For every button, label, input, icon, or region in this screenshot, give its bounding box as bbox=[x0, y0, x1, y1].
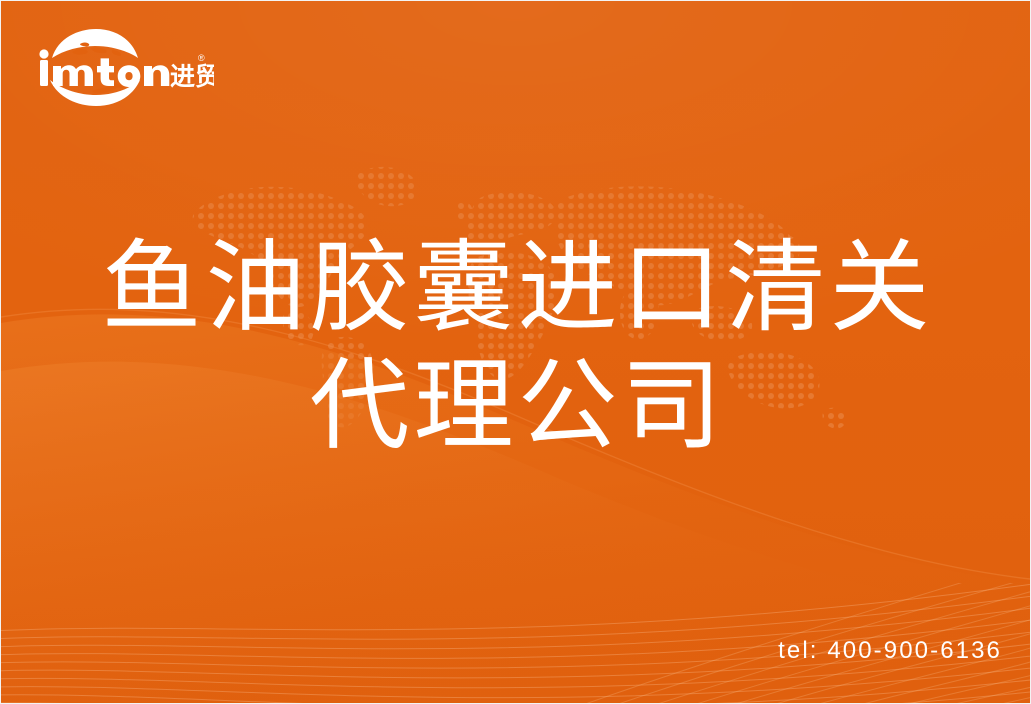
company-logo[interactable]: 进贸通 ® bbox=[34, 28, 214, 106]
logo-chinese-name: 进贸通 bbox=[170, 62, 214, 91]
logo-wordmark bbox=[39, 49, 169, 87]
contact-phone[interactable]: tel: 400-900-6136 bbox=[778, 637, 1002, 665]
headline-line-2: 代理公司 bbox=[1, 347, 1030, 465]
headline-line-1: 鱼油胶囊进口清关 bbox=[1, 229, 1030, 347]
globe-arc-icon bbox=[52, 29, 138, 58]
promo-banner: 进贸通 ® 鱼油胶囊进口清关 代理公司 tel: 400-900-6136 bbox=[0, 0, 1031, 704]
dotted-world-map bbox=[176, 141, 866, 431]
background-gradient bbox=[1, 1, 1030, 703]
trademark-symbol: ® bbox=[198, 53, 205, 63]
page-title: 鱼油胶囊进口清关 代理公司 bbox=[1, 229, 1030, 465]
